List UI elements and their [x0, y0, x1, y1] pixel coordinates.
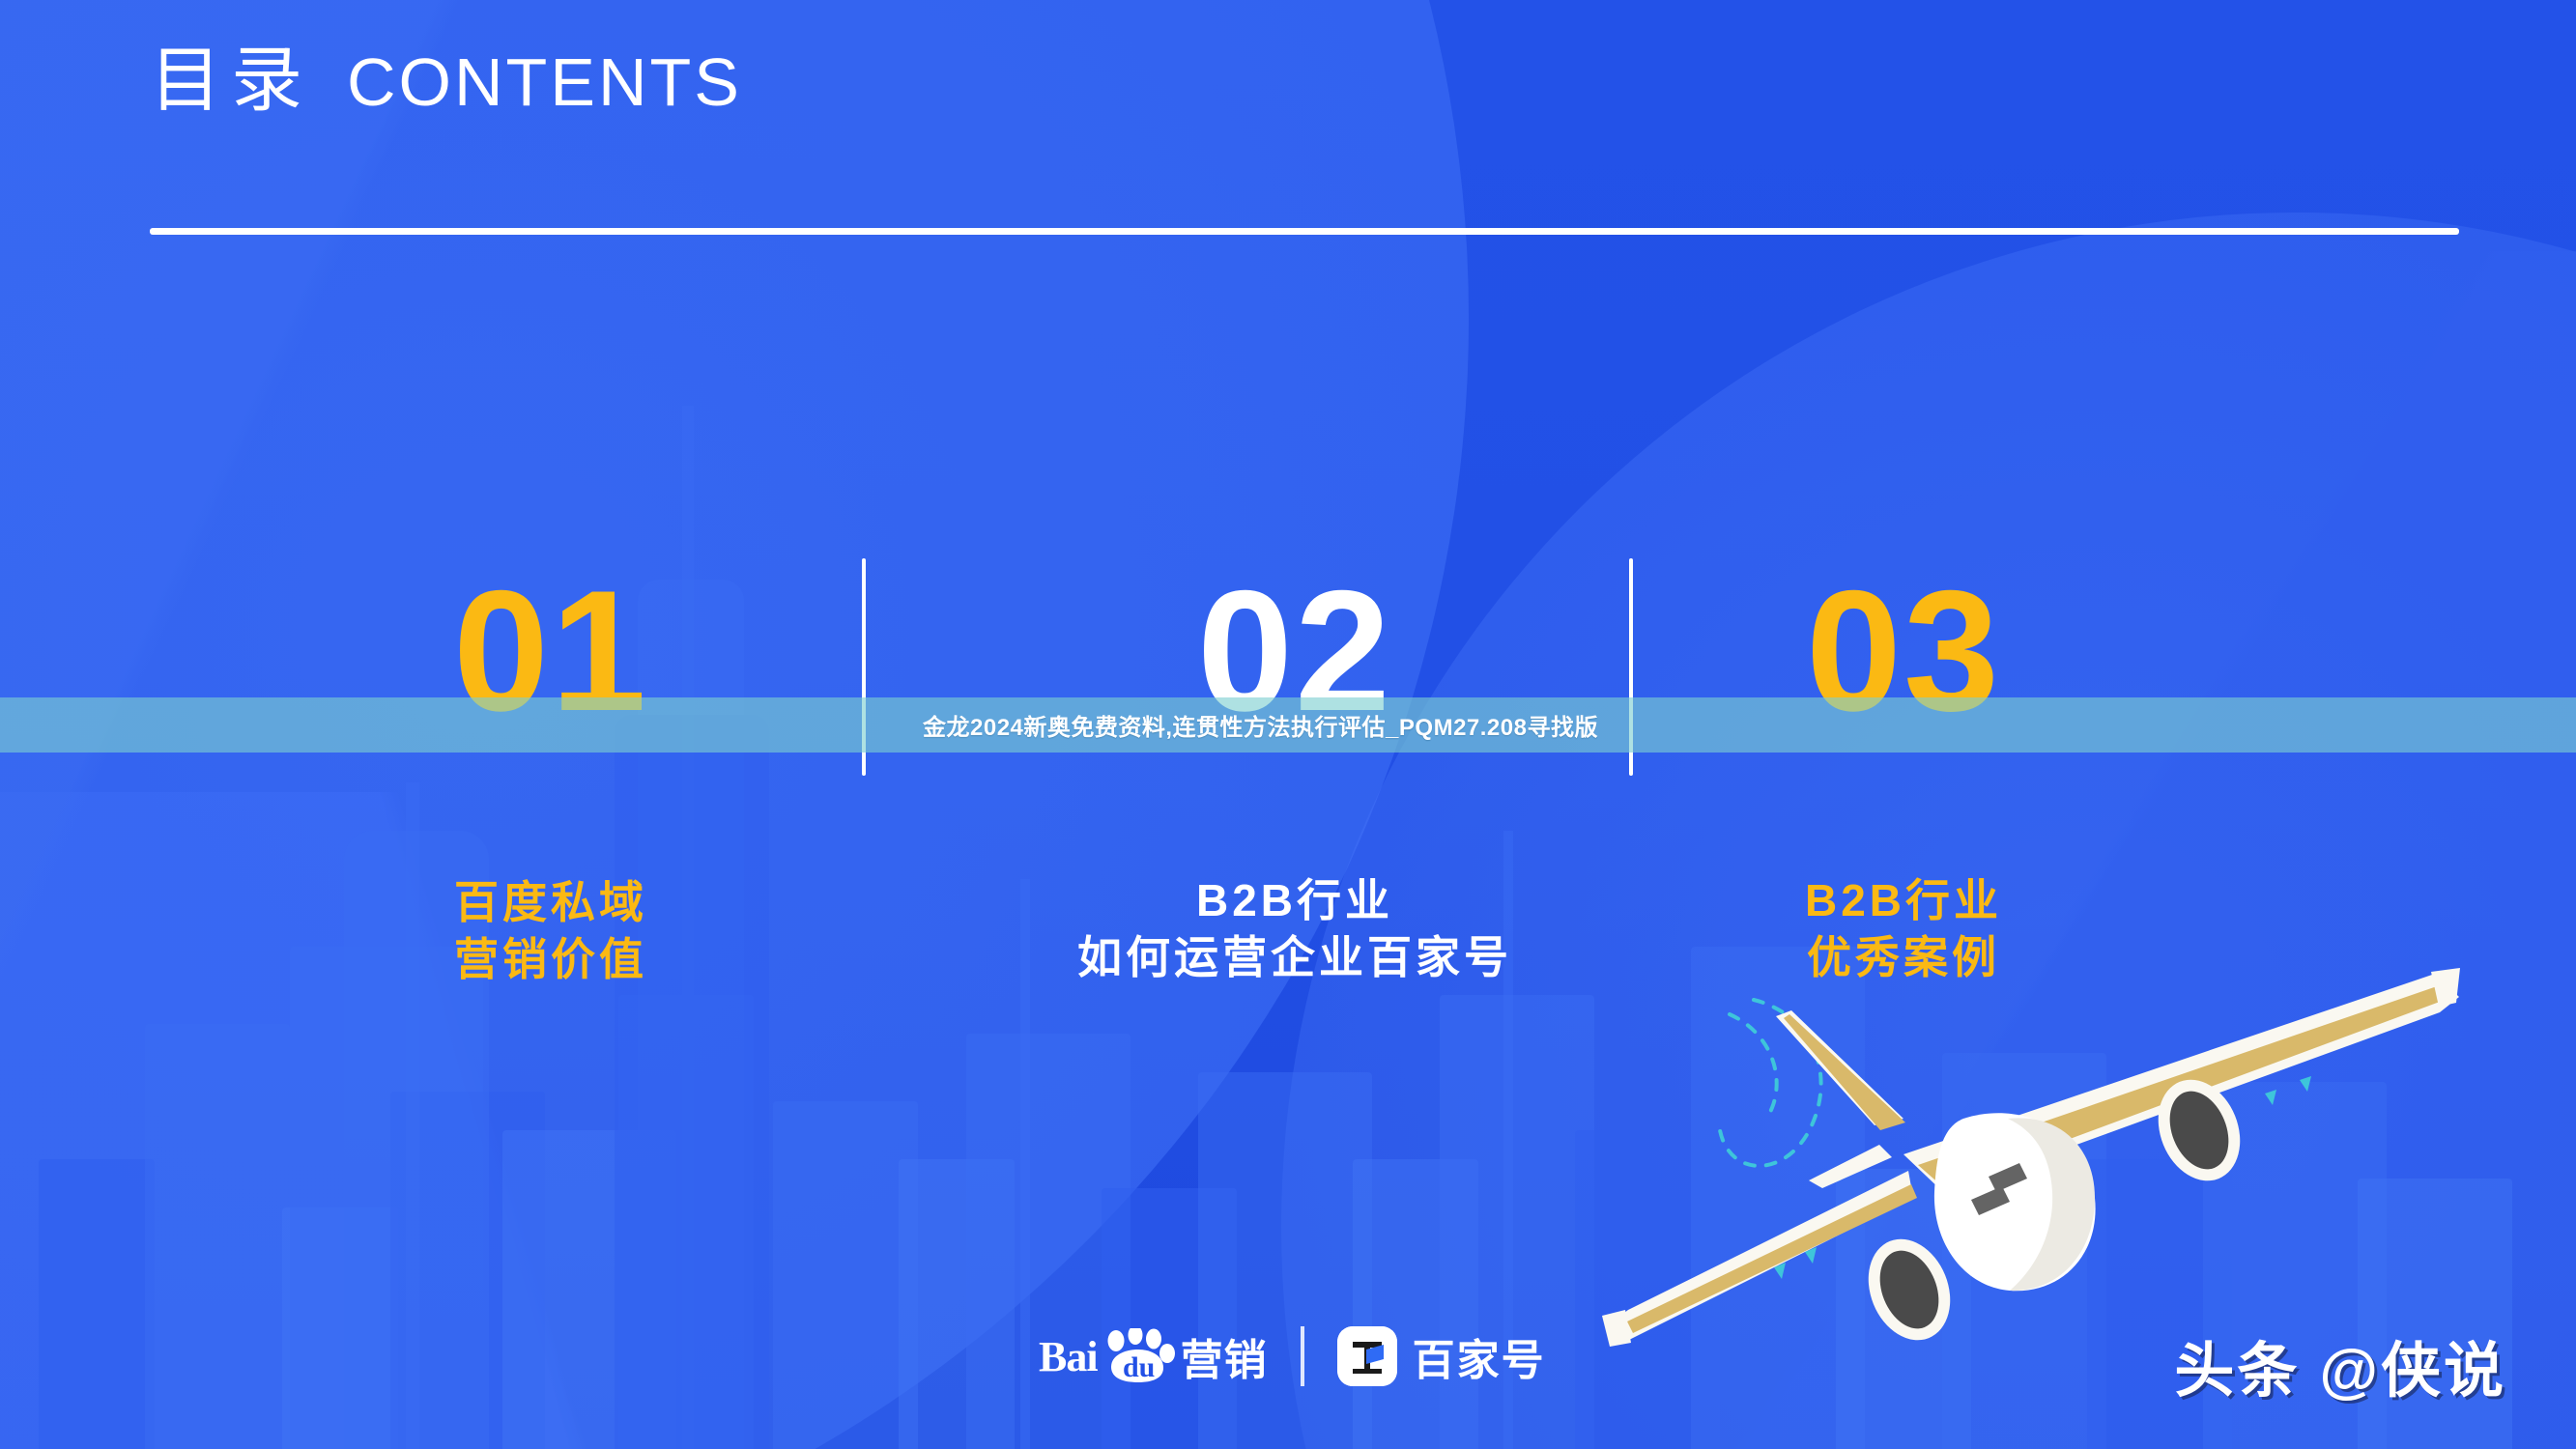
toc-label-02-line2: 如何运营企业百家号 [976, 929, 1614, 986]
toc-label-01-line1: 百度私域 [348, 874, 754, 931]
brand-logos: Bai du 营销 [1039, 1325, 1546, 1387]
baijiahao-label: 百家号 [1413, 1325, 1546, 1387]
toc-label-01-line2: 营销价值 [348, 931, 754, 988]
logo-separator [1301, 1326, 1304, 1386]
presentation-slide: 目录 CONTENTS 01 百度私域 营销价值 02 B2B行业 如何运营企业… [0, 0, 2576, 1449]
watermark-corner-text: 头条 @侠说 [2174, 1321, 2506, 1408]
baidu-marketing-logo: Bai du 营销 [1039, 1325, 1268, 1387]
baidu-wordmark: Bai [1039, 1332, 1098, 1381]
toc-label-03-line1: B2B行业 [1701, 872, 2106, 929]
watermark-band-text: 金龙2024新奥免费资料,连贯性方法执行评估_PQM27.208寻找版 [923, 708, 1598, 742]
toc-label-02-line1: B2B行业 [976, 872, 1614, 929]
toc-label-02: B2B行业 如何运营企业百家号 [976, 872, 1614, 986]
baijiahao-logo: 百家号 [1337, 1325, 1546, 1387]
baidu-marketing-label: 营销 [1181, 1325, 1268, 1387]
toc-label-01: 百度私域 营销价值 [348, 874, 754, 988]
airplane-icon [1585, 956, 2512, 1372]
baijiahao-icon [1337, 1326, 1397, 1386]
paw-icon: du [1103, 1328, 1175, 1384]
watermark-band: 金龙2024新奥免费资料,连贯性方法执行评估_PQM27.208寻找版 [0, 697, 2576, 753]
svg-text:du: du [1123, 1351, 1155, 1383]
